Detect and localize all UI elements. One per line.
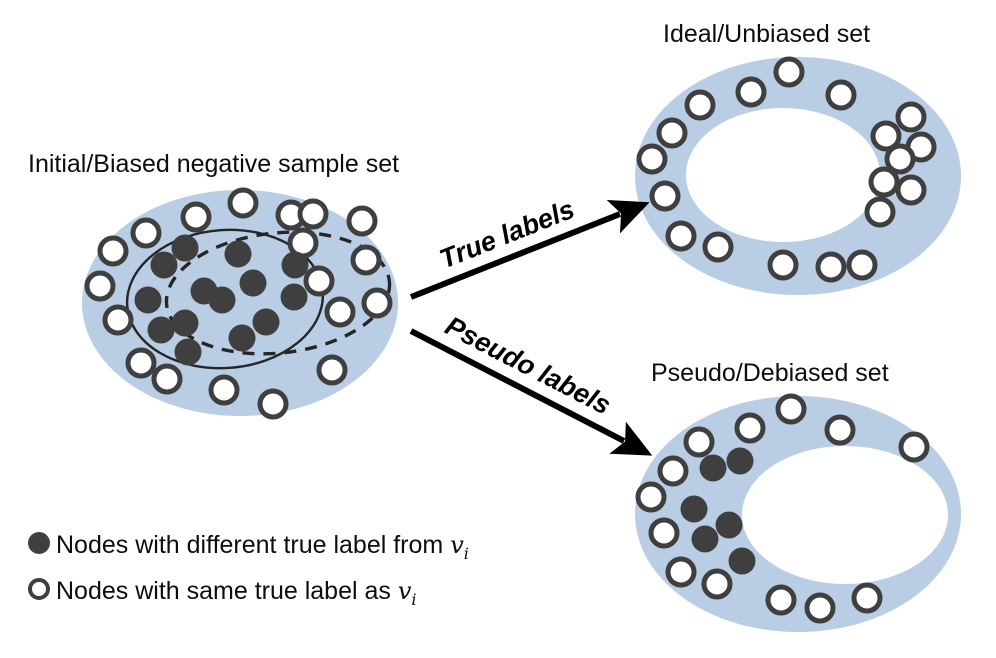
node-different-label <box>135 287 162 314</box>
node-different-label <box>229 325 256 352</box>
node-same-label <box>898 177 924 203</box>
node-different-label <box>240 270 267 297</box>
node-same-label <box>737 415 763 441</box>
true-labels-arrow-label: True labels <box>435 194 578 274</box>
transformation-arrows-group: True labelsPseudo labels <box>411 194 624 441</box>
node-same-label <box>349 208 375 234</box>
node-same-label <box>651 520 677 546</box>
filled-circle-icon <box>28 532 50 554</box>
legend-item-different-label: Nodes with different true label from vi <box>56 531 469 563</box>
ideal-unbiased-set-caption: Ideal/Unbiased set <box>663 20 870 48</box>
node-same-label <box>659 120 685 146</box>
node-same-label <box>260 391 286 417</box>
node-different-label <box>151 252 178 279</box>
node-same-label <box>704 571 730 597</box>
node-same-label <box>364 290 390 316</box>
node-different-label <box>191 278 218 305</box>
legend-item-same-label: Nodes with same true label as vi <box>56 577 417 609</box>
node-same-label <box>183 204 209 230</box>
hollow-circle-icon <box>30 580 48 598</box>
node-different-label <box>716 512 743 539</box>
legend: Nodes with different true label from vi … <box>28 531 469 609</box>
legend-subscript-i-different: i <box>464 544 469 563</box>
node-same-label <box>133 220 159 246</box>
node-same-label <box>686 429 712 455</box>
node-same-label <box>898 104 924 130</box>
node-same-label <box>639 146 665 172</box>
node-same-label <box>828 82 854 108</box>
node-same-label <box>738 79 764 105</box>
legend-subscript-i-same: i <box>411 590 416 609</box>
node-same-label <box>705 234 731 260</box>
node-different-label <box>700 455 727 482</box>
node-same-label <box>776 59 802 85</box>
node-same-label <box>100 238 126 264</box>
node-different-label <box>175 339 202 366</box>
node-same-label <box>807 595 833 621</box>
node-different-label <box>282 252 309 279</box>
node-same-label <box>300 201 326 227</box>
node-different-label <box>172 310 199 337</box>
node-same-label <box>327 299 353 325</box>
legend-label-different: Nodes with different true label from <box>56 531 450 559</box>
legend-symbol-v-different: v <box>450 531 464 559</box>
node-same-label <box>319 357 345 383</box>
node-same-label <box>901 434 927 460</box>
node-same-label <box>306 268 332 294</box>
node-same-label <box>87 273 113 299</box>
diagram-canvas: Initial/Biased negative sample set Ideal… <box>0 0 996 658</box>
node-different-label <box>729 548 756 575</box>
node-same-label <box>638 484 664 510</box>
node-same-label <box>871 169 897 195</box>
initial-biased-set-group <box>82 190 398 417</box>
node-same-label <box>105 307 131 333</box>
node-same-label <box>827 417 853 443</box>
node-different-label <box>727 448 754 475</box>
node-same-label <box>211 377 237 403</box>
node-same-label <box>768 587 794 613</box>
node-different-label <box>253 309 280 336</box>
node-same-label <box>687 92 713 118</box>
node-different-label <box>692 526 719 553</box>
legend-label-same: Nodes with same true label as <box>56 577 398 605</box>
node-same-label <box>867 199 893 225</box>
node-same-label <box>154 366 180 392</box>
node-different-label <box>225 241 252 268</box>
node-same-label <box>818 254 844 280</box>
node-same-label <box>887 146 913 172</box>
node-different-label <box>148 317 175 344</box>
node-same-label <box>778 396 804 422</box>
node-same-label <box>660 458 686 484</box>
pseudo-debiased-set-caption: Pseudo/Debiased set <box>651 359 889 387</box>
node-same-label <box>668 223 694 249</box>
diagram-svg: Initial/Biased negative sample set Ideal… <box>0 0 996 658</box>
node-same-label <box>770 252 796 278</box>
node-different-label <box>681 496 708 523</box>
node-same-label <box>668 559 694 585</box>
node-same-label <box>128 350 154 376</box>
pseudo-labels-arrow-label: Pseudo labels <box>440 311 615 421</box>
node-same-label <box>854 585 880 611</box>
node-different-label <box>281 284 308 311</box>
initial-biased-set-caption: Initial/Biased negative sample set <box>28 150 399 178</box>
legend-symbol-v-same: v <box>398 577 412 605</box>
node-same-label <box>230 190 256 216</box>
pseudo-debiased-set-group <box>635 396 961 632</box>
ideal-unbiased-set-group <box>635 57 961 295</box>
node-same-label <box>652 183 678 209</box>
node-different-label <box>172 235 199 262</box>
node-same-label <box>849 252 875 278</box>
node-same-label <box>353 247 379 273</box>
